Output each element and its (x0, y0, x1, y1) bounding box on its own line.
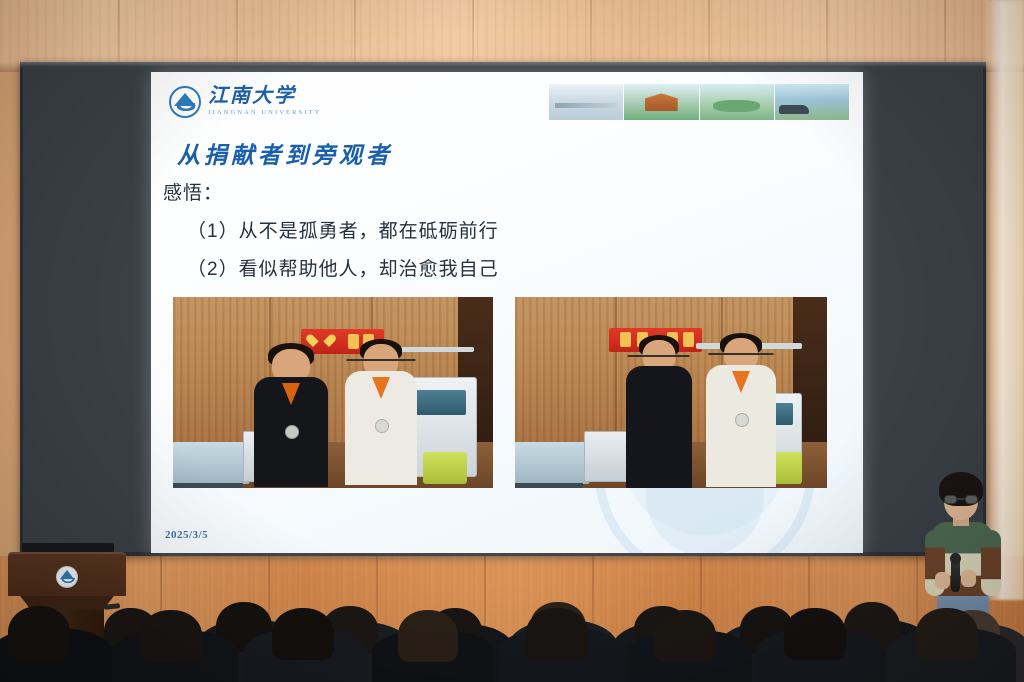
presentation-slide: 江南大学 JIANGNAN UNIVERSITY 从捐献者到旁观者 感悟： （1… (151, 72, 863, 553)
slide-title: 从捐献者到旁观者 (177, 136, 393, 170)
slide-date: 2025/3/5 (165, 529, 208, 541)
university-mountain-wave-logo-icon (169, 86, 201, 118)
audience-head (398, 610, 458, 662)
university-logo: 江南大学 JIANGNAN UNIVERSITY (169, 86, 321, 118)
audience-head (272, 608, 334, 660)
screen-surface: 江南大学 JIANGNAN UNIVERSITY 从捐献者到旁观者 感悟： （1… (23, 66, 983, 552)
slide-bullet-2: （2）看似帮助他人，却治愈我自己 (187, 254, 499, 281)
campus-lawn-photo (700, 84, 774, 120)
slide-bullet-1: （1）从不是孤勇者，都在砥砺前行 (187, 216, 499, 243)
campus-road-photo (775, 84, 849, 120)
podium-equipment-shelf (22, 543, 114, 552)
audience-head (526, 608, 588, 660)
seated-audience (0, 578, 1024, 682)
campus-photo-strip (549, 84, 849, 120)
photo-person (243, 343, 339, 488)
campus-gate-photo (624, 84, 698, 120)
audience-head (8, 606, 70, 660)
photo-person (696, 333, 786, 488)
slide-lead-text: 感悟： (163, 178, 223, 205)
photo-person (333, 339, 429, 488)
donor-photo-left (173, 297, 493, 488)
projection-screen: 江南大学 JIANGNAN UNIVERSITY 从捐献者到旁观者 感悟： （1… (20, 62, 986, 556)
audience-head (916, 608, 978, 660)
photo-person (615, 335, 702, 488)
campus-bridge-photo (549, 84, 623, 120)
eyeglasses-icon (944, 495, 978, 504)
university-name-cn: 江南大学 (208, 86, 321, 107)
lecture-hall-scene: 江南大学 JIANGNAN UNIVERSITY 从捐献者到旁观者 感悟： （1… (0, 0, 1024, 682)
audience-head (784, 608, 846, 660)
donor-photo-right (515, 297, 827, 488)
audience-head (140, 610, 202, 662)
university-name-en: JIANGNAN UNIVERSITY (208, 109, 321, 116)
slide-header: 江南大学 JIANGNAN UNIVERSITY (151, 72, 863, 130)
audience-head (654, 610, 716, 662)
